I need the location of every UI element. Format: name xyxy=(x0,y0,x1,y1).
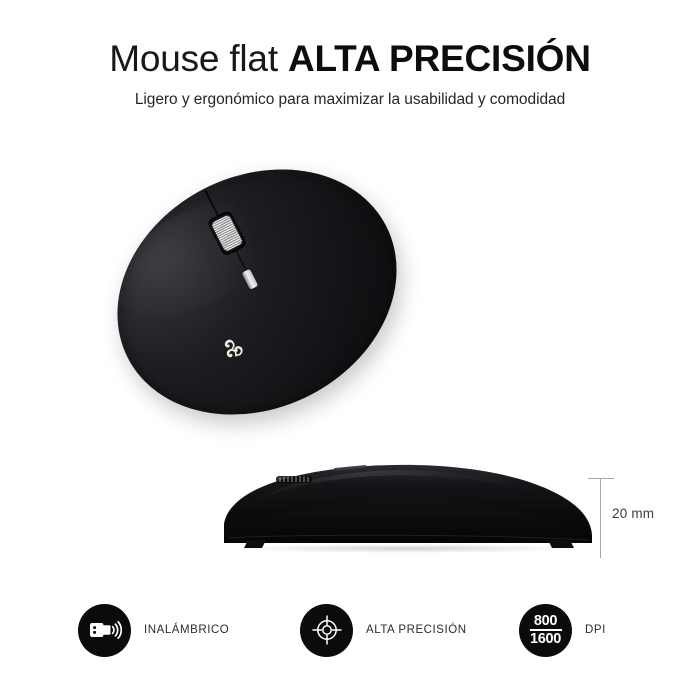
dpi-value-badge: 800 1600 xyxy=(519,604,572,657)
height-dimension-annotation: 20 mm xyxy=(588,474,684,560)
mouse-side-view-image xyxy=(218,452,598,562)
page-title: Mouse flat ALTA PRECISIÓN xyxy=(0,36,700,82)
feature-precision: ALTA PRECISIÓN xyxy=(300,602,467,658)
page-header: Mouse flat ALTA PRECISIÓN Ligero y ergon… xyxy=(0,36,700,109)
feature-label-wireless: INALÁMBRICO xyxy=(144,624,229,636)
page-subtitle: Ligero y ergonómico para maximizar la us… xyxy=(0,91,700,109)
dimension-tick-top xyxy=(588,478,614,479)
product-feature-page: Mouse flat ALTA PRECISIÓN Ligero y ergon… xyxy=(0,0,700,700)
mouse-side-view-figure xyxy=(218,452,598,562)
dimension-label: 20 mm xyxy=(612,506,654,521)
feature-wireless: INALÁMBRICO xyxy=(78,602,229,658)
mouse-top-view-image xyxy=(75,123,439,461)
page-title-light: Mouse flat xyxy=(109,38,288,79)
dpi-high-value: 1600 xyxy=(530,631,561,647)
wireless-usb-dongle-icon xyxy=(78,604,131,657)
feature-badge-row: INALÁMBRICO ALTA PRECISIÓN xyxy=(0,602,700,672)
dimension-line xyxy=(600,478,601,558)
mouse-top-view-figure xyxy=(88,140,438,460)
page-title-bold: ALTA PRECISIÓN xyxy=(288,38,591,79)
dpi-low-value: 800 xyxy=(534,614,557,630)
feature-dpi: 800 1600 DPI xyxy=(519,602,606,658)
feature-label-precision: ALTA PRECISIÓN xyxy=(366,624,467,636)
feature-label-dpi: DPI xyxy=(585,624,606,636)
crosshair-target-icon xyxy=(300,604,353,657)
